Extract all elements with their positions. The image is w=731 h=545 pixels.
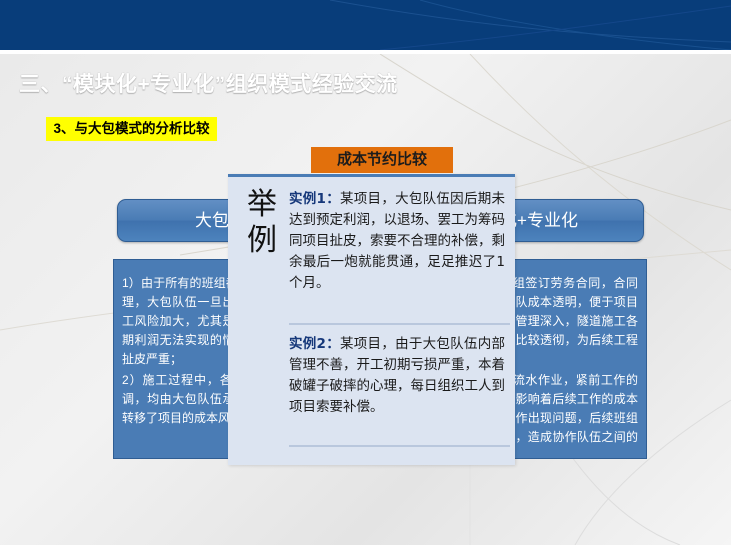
banner-separator — [0, 50, 731, 54]
cost-saving-comparison-chip: 成本节约比较 — [311, 147, 453, 173]
example-item-2: 实例2：某项目，由于大包队伍内部管理不善，开工初期亏损严重，本着破罐子破摔的心理… — [289, 334, 505, 418]
example-1-tag: 实例1 — [289, 191, 326, 207]
example-1-separator: ： — [326, 191, 340, 207]
overlay-label-char-2: 例 — [242, 223, 282, 259]
example-divider-bottom — [289, 445, 510, 447]
section-sub-heading: 3、与大包模式的分析比较 — [46, 117, 217, 141]
example-item-1: 实例1：某项目，大包队伍因后期未达到预定利润，以退场、罢工为筹码同项目扯皮，索要… — [289, 189, 505, 294]
overlay-label-char-1: 举 — [242, 187, 282, 223]
slide-canvas: 三、“模块化+专业化”组织模式经验交流 3、与大包模式的分析比较 成本节约比较 … — [0, 0, 731, 545]
example-2-tag: 实例2 — [289, 336, 326, 352]
top-banner — [0, 0, 731, 50]
overlay-vertical-label: 举 例 — [242, 187, 282, 259]
example-2-separator: ： — [326, 336, 340, 352]
examples-overlay-card: 举 例 实例1：某项目，大包队伍因后期未达到预定利润，以退场、罢工为筹码同项目扯… — [228, 174, 515, 465]
page-title: 三、“模块化+专业化”组织模式经验交流 — [19, 68, 398, 98]
example-divider-top — [289, 323, 510, 325]
